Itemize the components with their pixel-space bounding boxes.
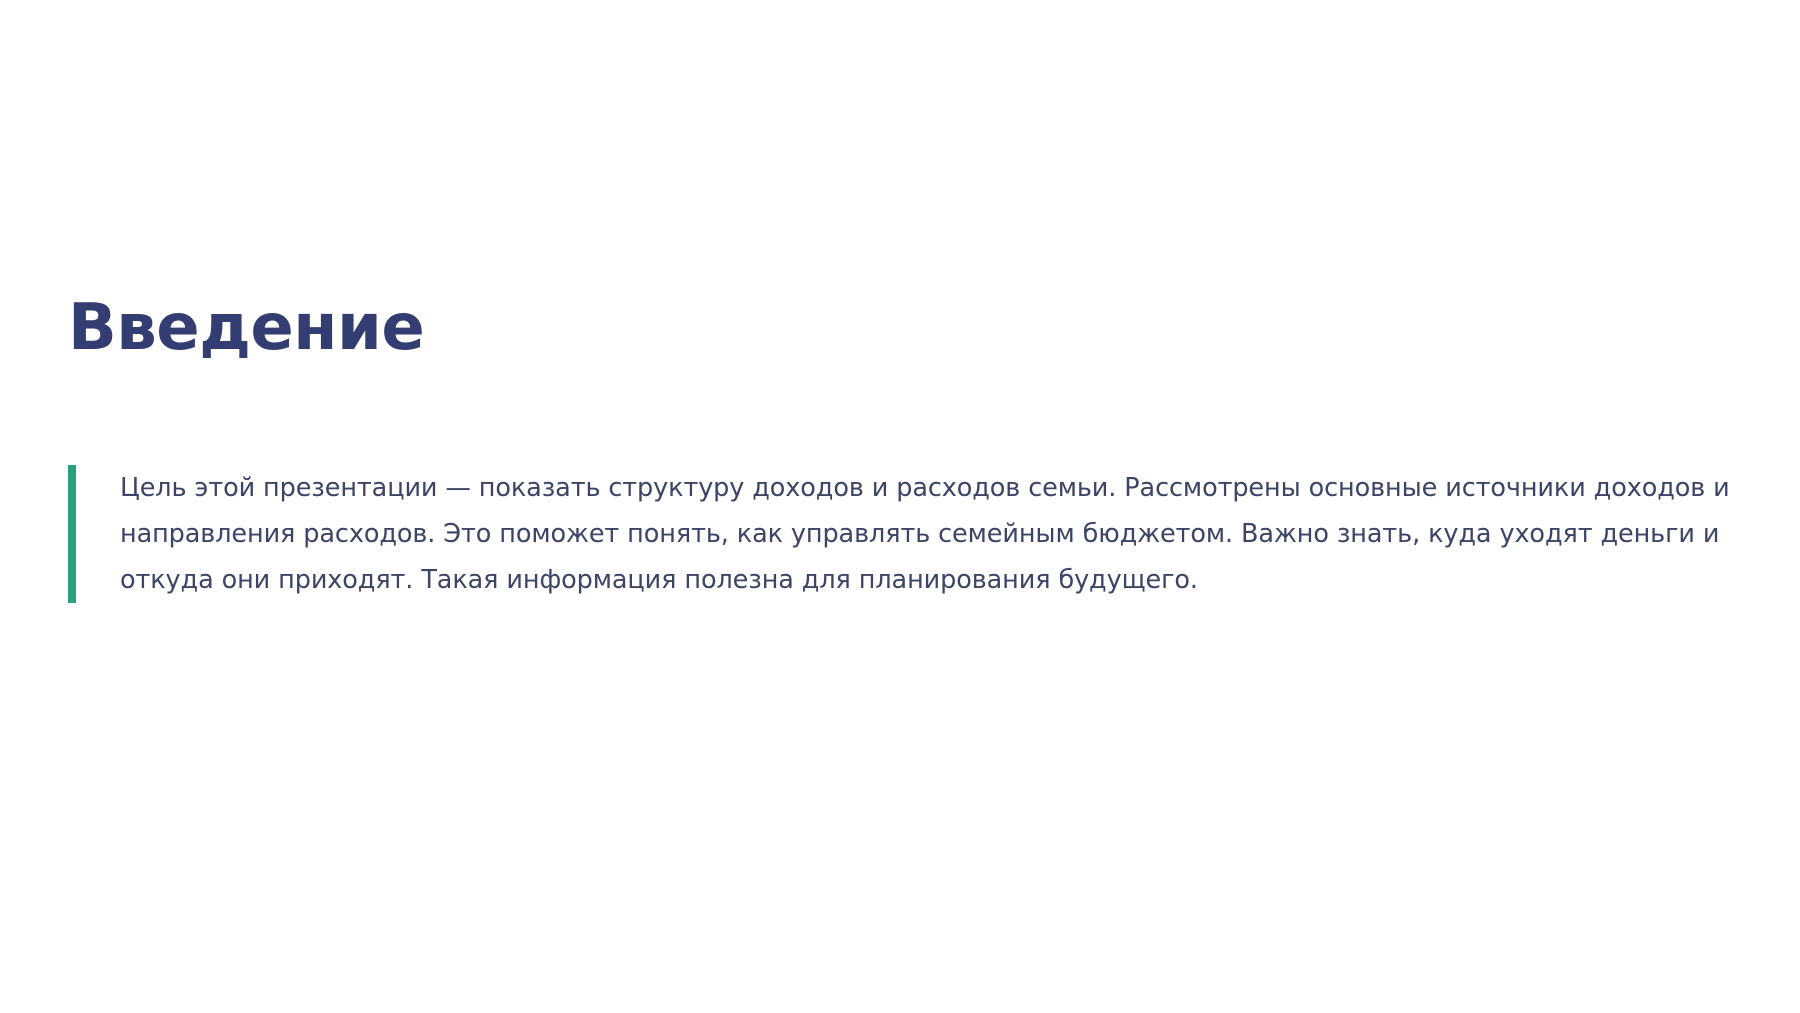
accent-bar: [68, 465, 76, 603]
presentation-slide: Введение Цель этой презентации — показат…: [0, 0, 1800, 1013]
intro-text-block: Цель этой презентации — показать структу…: [68, 465, 1748, 603]
page-title: Введение: [68, 296, 424, 360]
intro-paragraph: Цель этой презентации — показать структу…: [76, 465, 1748, 603]
